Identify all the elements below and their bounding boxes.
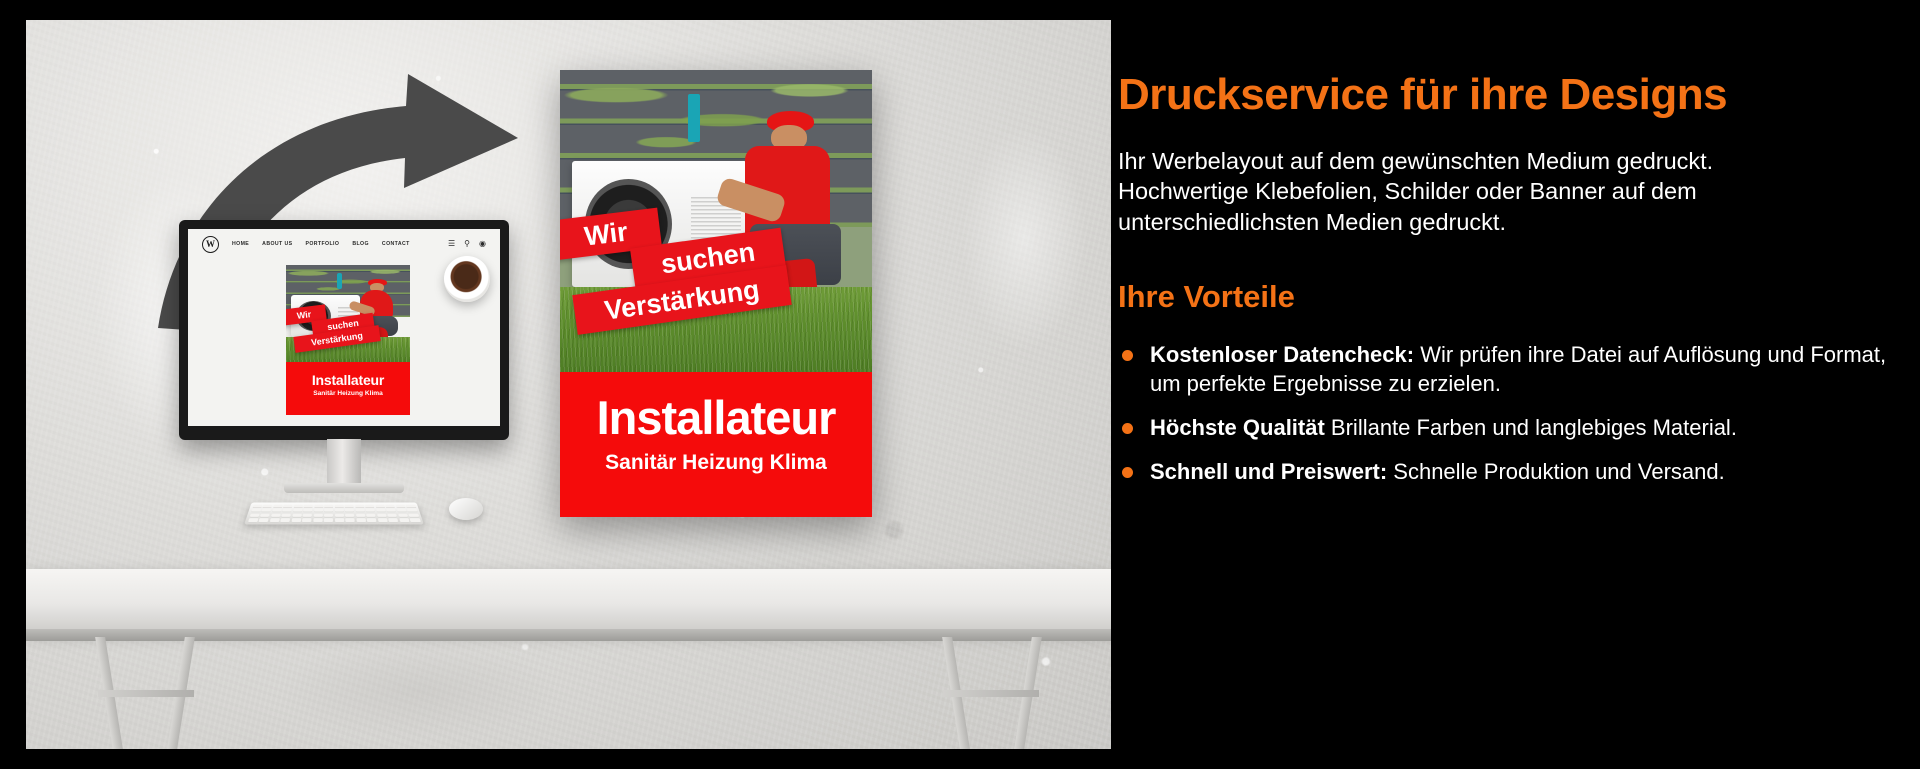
navbar-icons: ☰ ⚲ ◉ <box>448 240 486 248</box>
monitor-screen[interactable]: W HOME ABOUT US PORTFOLIO BLOG CONTACT ☰… <box>188 229 500 426</box>
keyboard-row <box>251 509 418 512</box>
lede-line: Hochwertige Klebefolien, Schilder oder B… <box>1118 176 1892 207</box>
benefits-list: Kostenloser Datencheck: Wir prüfen ihre … <box>1118 341 1892 486</box>
site-logo[interactable]: W <box>202 236 219 253</box>
keyboard-row <box>252 504 416 507</box>
nav-link-portfolio[interactable]: PORTFOLIO <box>305 241 339 247</box>
bullet-dot-icon <box>1122 423 1133 434</box>
website-hero-image: Wir suchen Verstärkung <box>286 265 410 365</box>
nav-link-contact[interactable]: CONTACT <box>382 241 410 247</box>
bullet-dot-icon <box>1122 350 1133 361</box>
poster-subtitle: Sanitär Heizung Klima <box>560 451 872 475</box>
desk-surface <box>26 569 1111 631</box>
lede-paragraph: Ihr Werbelayout auf dem gewünschten Medi… <box>1118 146 1892 238</box>
promo-banner: W HOME ABOUT US PORTFOLIO BLOG CONTACT ☰… <box>0 0 1920 769</box>
bullet-dot-icon <box>1122 467 1133 478</box>
poster-red-block: Installateur Sanitär Heizung Klima <box>560 372 872 517</box>
website-subtitle: Sanitär Heizung Klima <box>286 390 410 397</box>
desk-brace <box>98 690 194 697</box>
poster-title: Installateur <box>560 394 872 441</box>
website-red-block: Installateur Sanitär Heizung Klima <box>286 362 410 415</box>
printed-poster: Wir suchen Verstärkung Installateur Sani… <box>560 70 872 517</box>
benefit-label: Schnell und Preiswert: <box>1150 459 1387 484</box>
menu-icon[interactable]: ☰ <box>448 240 455 248</box>
lede-line: Ihr Werbelayout auf dem gewünschten Medi… <box>1118 146 1892 177</box>
computer-mouse[interactable] <box>449 498 483 520</box>
benefit-text: Schnelle Produktion und Versand. <box>1387 459 1725 484</box>
subheadline: Ihre Vorteile <box>1118 279 1892 315</box>
list-item: Kostenloser Datencheck: Wir prüfen ihre … <box>1118 341 1892 397</box>
benefit-label: Kostenloser Datencheck: <box>1150 342 1414 367</box>
marketing-text-panel: Druckservice für ihre Designs Ihr Werbel… <box>1118 0 1920 769</box>
keyboard[interactable] <box>244 502 424 524</box>
nav-link-blog[interactable]: BLOG <box>352 241 369 247</box>
website-title: Installateur <box>286 372 410 388</box>
list-item: Schnell und Preiswert: Schnelle Produkti… <box>1118 458 1892 486</box>
pipe <box>337 273 342 289</box>
list-item: Höchste Qualität Brillante Farben und la… <box>1118 414 1892 442</box>
workspace-photo-panel: W HOME ABOUT US PORTFOLIO BLOG CONTACT ☰… <box>26 20 1111 749</box>
desk-brace <box>943 690 1039 697</box>
coffee-cup <box>444 256 490 302</box>
monitor-stand-base <box>284 483 404 493</box>
lede-line: unterschiedlichsten Medien gedruckt. <box>1118 207 1892 238</box>
search-icon[interactable]: ⚲ <box>464 240 470 248</box>
poster-photo: Wir suchen Verstärkung <box>560 70 872 372</box>
pipe <box>688 94 700 142</box>
keyboard-row <box>247 519 420 523</box>
website-navbar: W HOME ABOUT US PORTFOLIO BLOG CONTACT ☰… <box>188 229 500 259</box>
desktop-monitor: W HOME ABOUT US PORTFOLIO BLOG CONTACT ☰… <box>179 220 509 440</box>
monitor-stand-neck <box>327 439 361 485</box>
user-icon[interactable]: ◉ <box>479 240 486 248</box>
keyboard-row <box>249 514 419 518</box>
nav-link-about-us[interactable]: ABOUT US <box>262 241 292 247</box>
benefit-text: Brillante Farben und langlebiges Materia… <box>1325 415 1737 440</box>
headline: Druckservice für ihre Designs <box>1118 72 1892 118</box>
benefit-label: Höchste Qualität <box>1150 415 1325 440</box>
nav-link-home[interactable]: HOME <box>232 241 249 247</box>
